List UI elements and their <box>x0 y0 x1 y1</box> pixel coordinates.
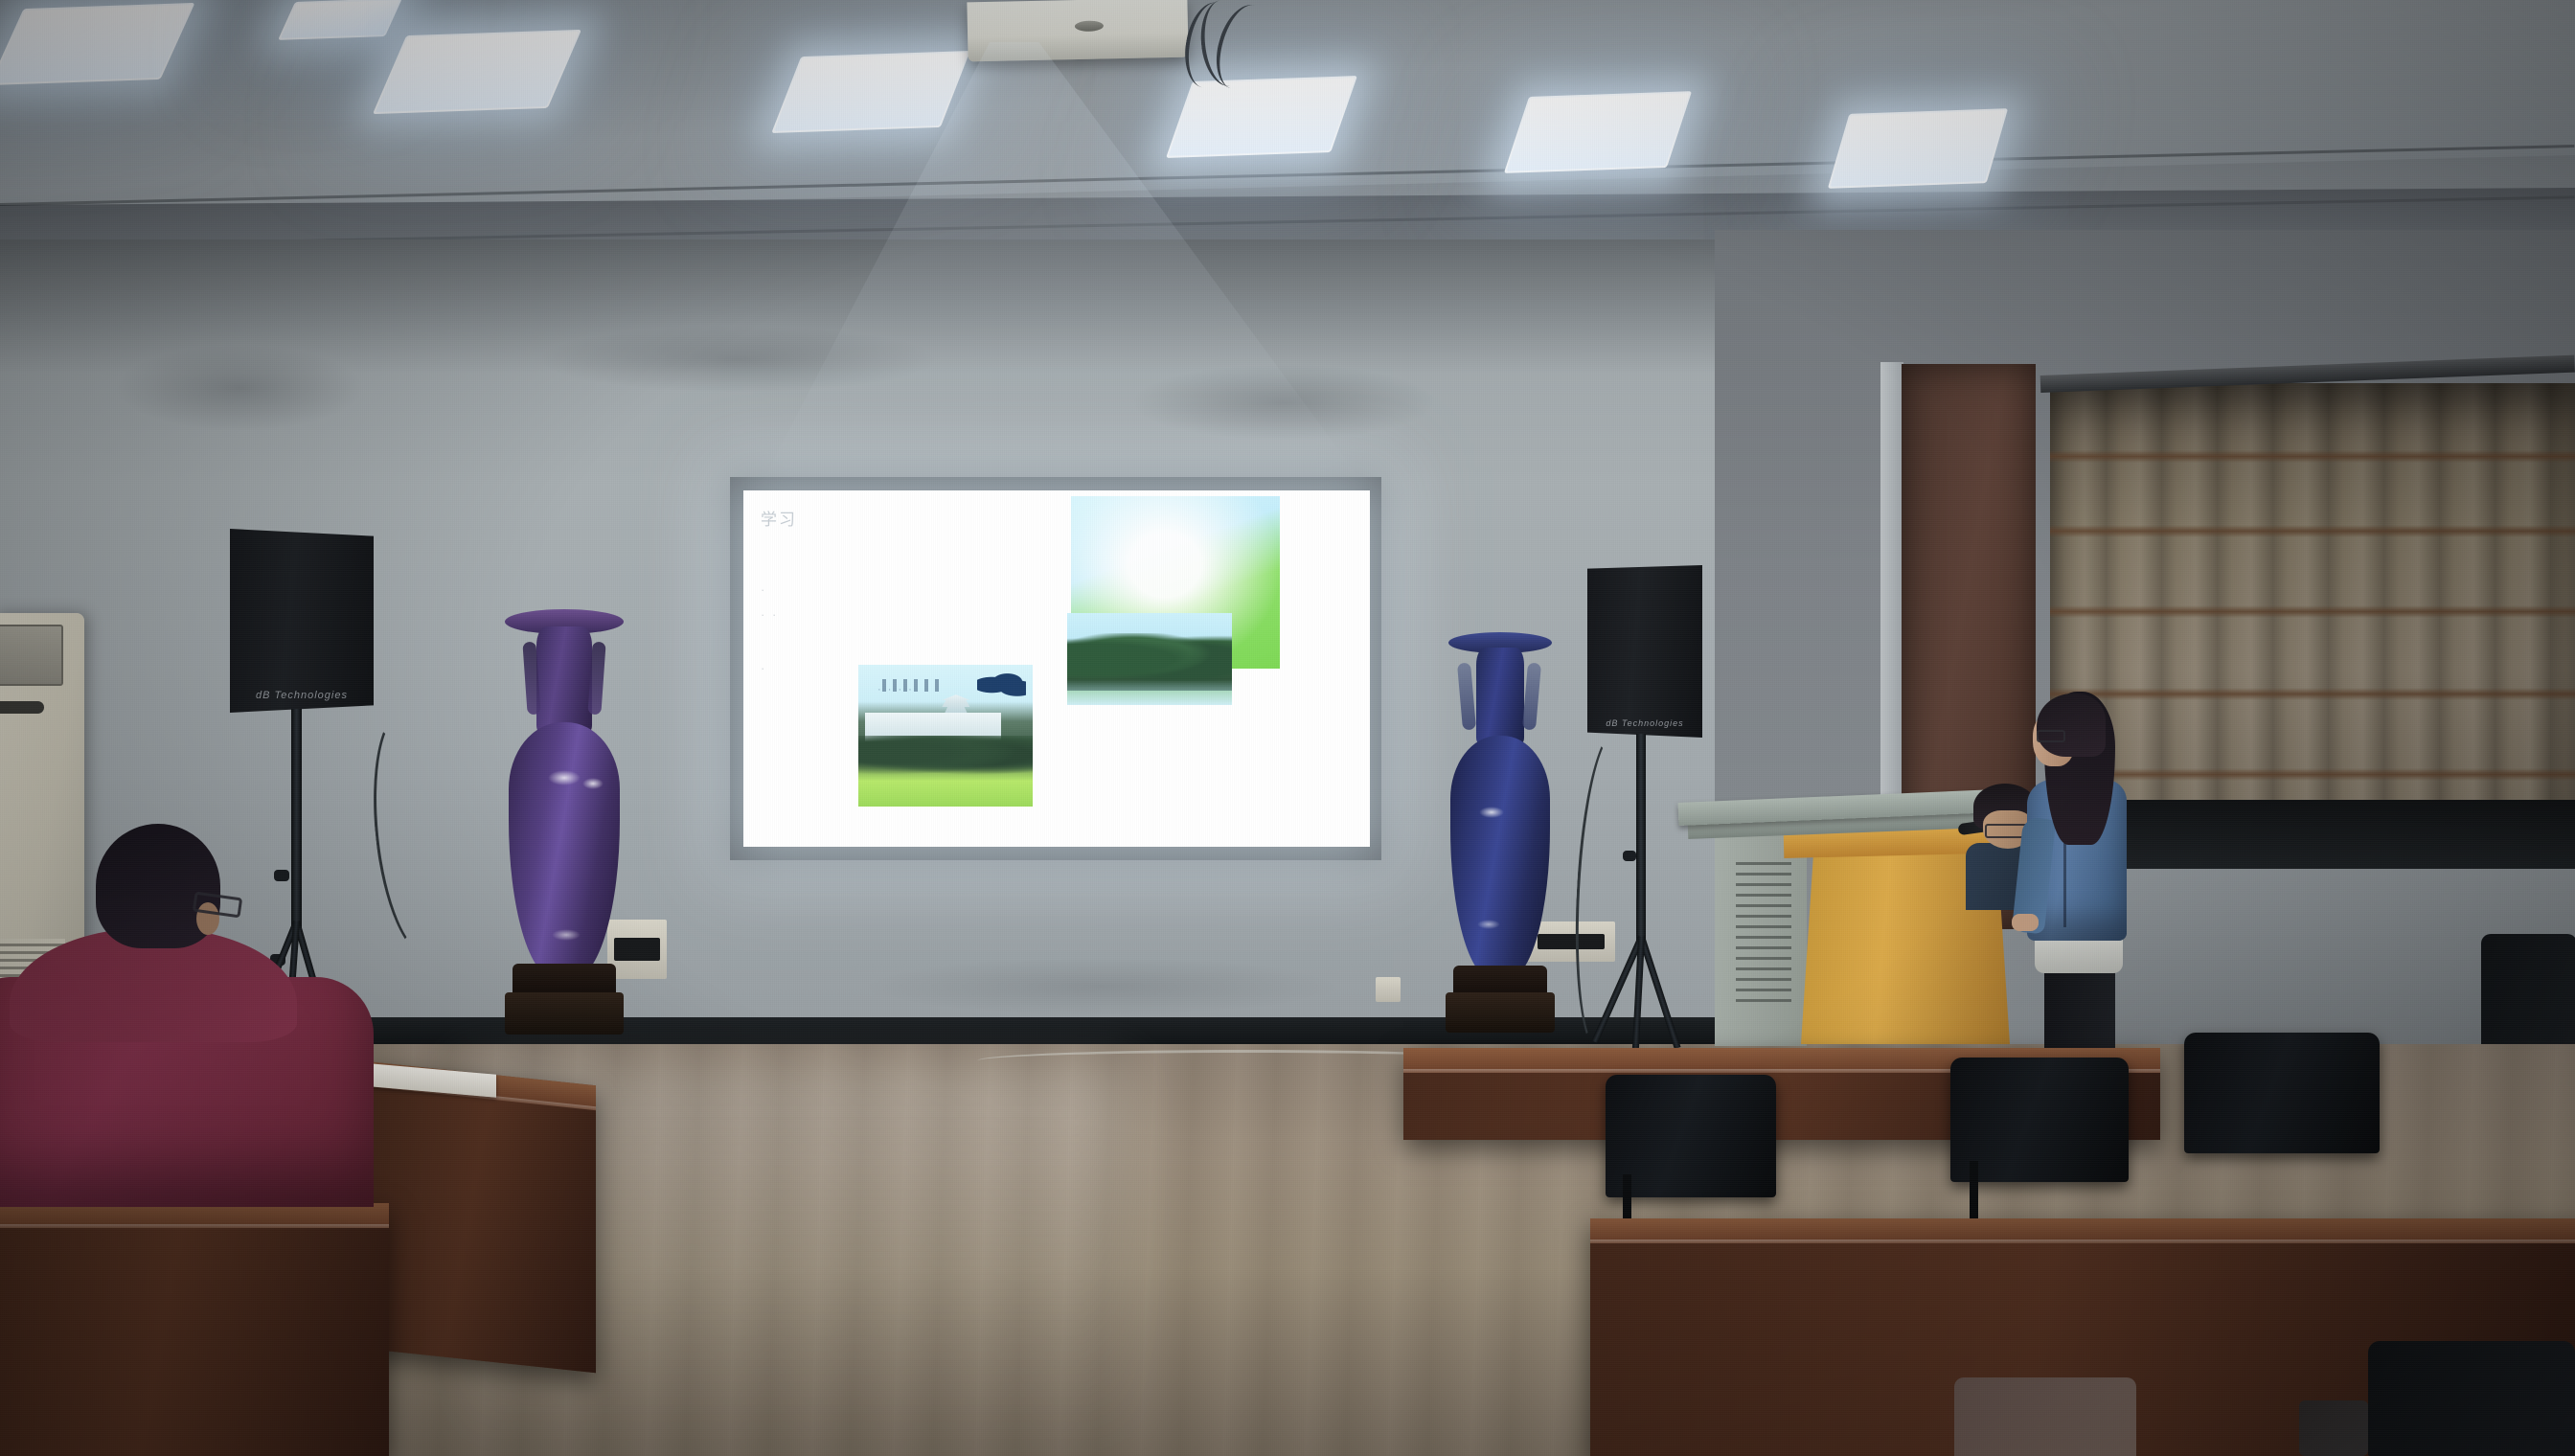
ceiling-light-2 <box>373 30 581 114</box>
slide-photo-campus-gate <box>1067 613 1232 705</box>
slide-body-line-1: · <box>761 582 766 597</box>
ceiling-light-4 <box>1166 76 1357 158</box>
speaker-right-brand-label: dB Technologies <box>1606 718 1683 728</box>
speaker-left-brand-label: dB Technologies <box>256 690 348 701</box>
vase-right-handle-2 <box>1522 663 1541 731</box>
speaker-right[interactable]: dB Technologies <box>1587 565 1702 738</box>
slide-body-line-3: · <box>761 661 766 675</box>
ceiling-light-3 <box>771 51 970 133</box>
object-under-desk <box>2299 1400 2368 1456</box>
speaker-left[interactable]: dB Technologies <box>230 529 374 713</box>
slide-title: 学习 <box>761 506 797 530</box>
vase-right <box>1437 632 1563 1054</box>
air-conditioner-display <box>0 625 63 686</box>
desk-front-left-front <box>0 1228 389 1456</box>
curtain-stripe-2 <box>2050 525 2575 537</box>
lecture-hall-scene: 学习 · · · · · · · · <box>0 0 2575 1456</box>
chair-3[interactable] <box>2184 1033 2380 1153</box>
slide-photo-gate-ground <box>1067 691 1232 705</box>
presenter-hand <box>2012 914 2039 931</box>
slide-photo-caption: · · · · <box>877 684 914 695</box>
slide-body-line-2: · · <box>761 607 778 622</box>
slide-photo-logo-icon <box>977 671 1026 699</box>
slide-photo-trees <box>858 736 1033 778</box>
back-wall-shadow <box>0 239 1724 374</box>
projection-screen-surface: 学习 · · · · · · · · <box>743 490 1370 847</box>
slide-photo-gate-trees <box>1067 633 1232 681</box>
vase-right-neck <box>1476 648 1524 743</box>
presenter-glasses-icon <box>2037 730 2065 742</box>
vase-right-body <box>1450 736 1550 979</box>
presenter <box>2012 688 2155 1052</box>
wall-socket-mid[interactable] <box>1376 977 1401 1002</box>
ceiling-projector <box>967 0 1188 61</box>
curtain-stripe-3 <box>2050 605 2575 618</box>
bag-under-desk <box>1954 1377 2136 1456</box>
podium-vent-grill <box>1736 862 1791 1006</box>
vase-right-base-lower <box>1446 992 1555 1033</box>
ceiling-light-7 <box>278 0 402 40</box>
vase-left-base-lower <box>505 992 624 1035</box>
curtain-stripe-1 <box>2050 450 2575 463</box>
projector-lens-icon <box>1075 20 1104 32</box>
ceiling-light-6 <box>1828 108 2008 189</box>
chair-foreground-right[interactable] <box>2368 1341 2575 1456</box>
audience-member <box>0 824 402 1207</box>
air-conditioner-vent-slot-icon <box>0 701 44 714</box>
ceiling-light-5 <box>1504 91 1692 173</box>
vase-left <box>492 609 636 1050</box>
vase-right-handle-1 <box>1457 663 1476 731</box>
desk-front-left[interactable] <box>0 1203 389 1456</box>
vase-left-body <box>509 722 620 979</box>
presenter-hair-front <box>2037 694 2106 757</box>
vase-left-neck <box>536 626 592 732</box>
presenter-trousers <box>2044 964 2115 1059</box>
projection-screen[interactable]: 学习 · · · · · · · · <box>730 477 1381 860</box>
